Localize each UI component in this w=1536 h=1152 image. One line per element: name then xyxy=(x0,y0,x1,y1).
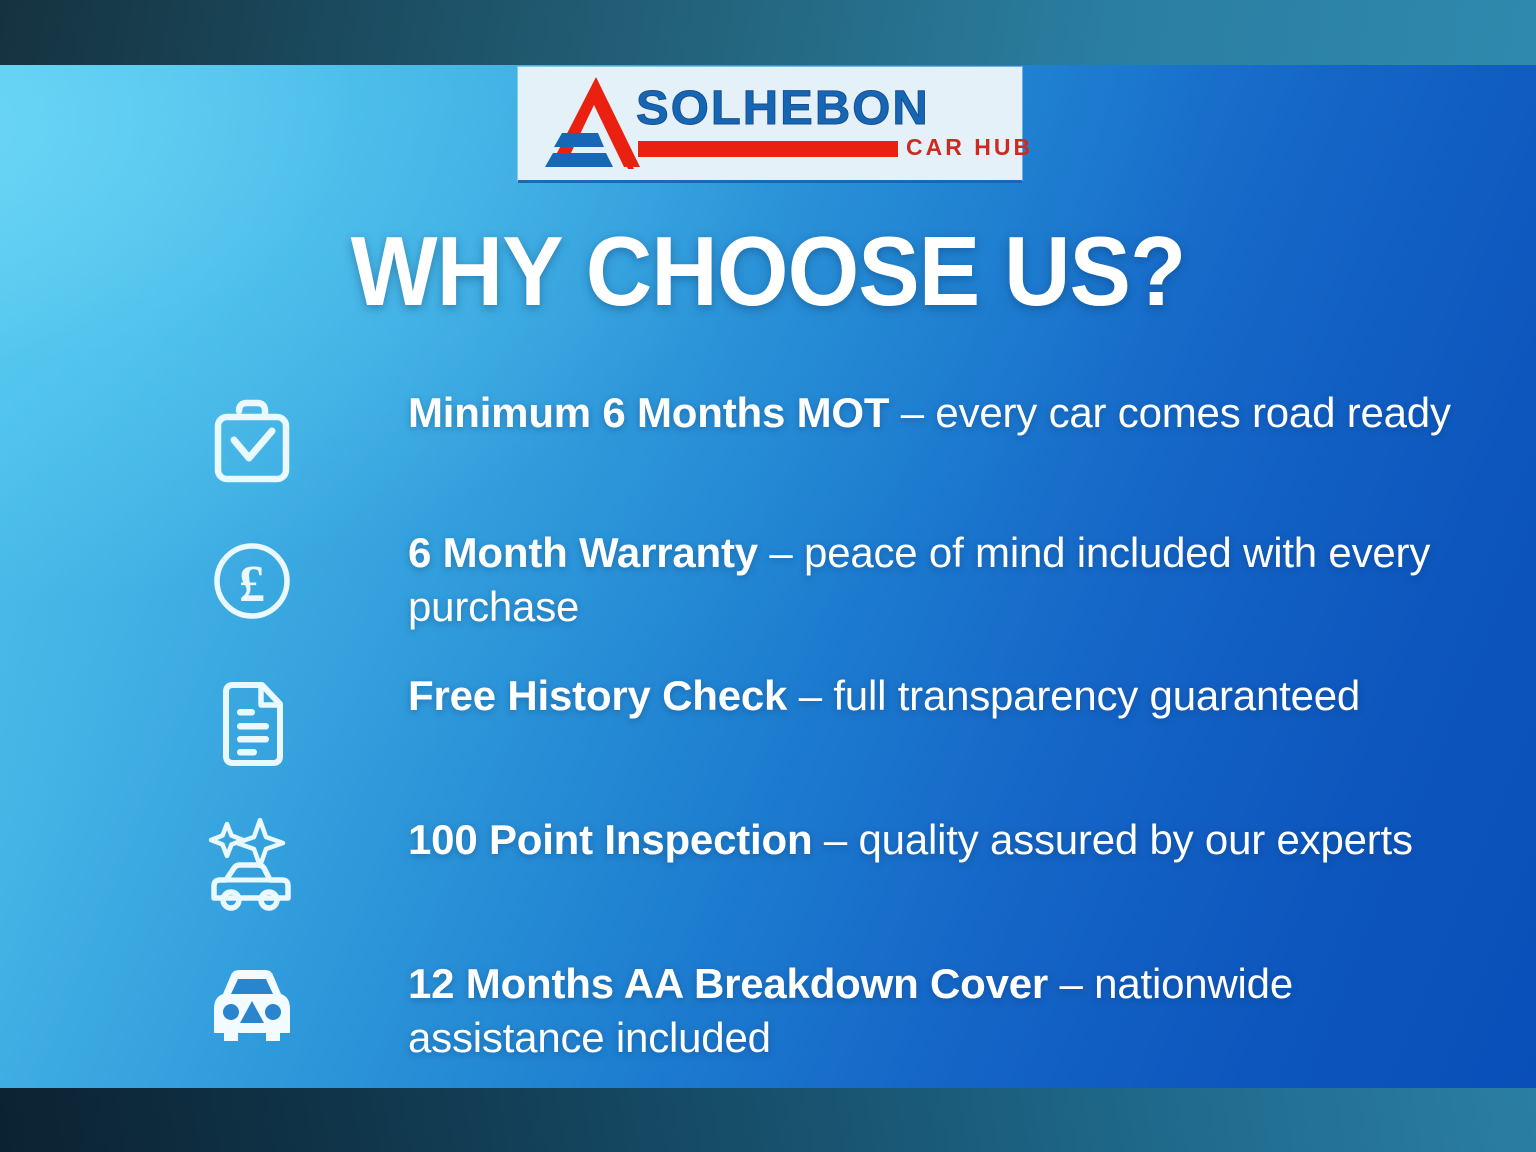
logo-subtitle: CAR HUB xyxy=(906,136,1033,159)
list-item: 100 Point Inspection – quality assured b… xyxy=(196,812,1496,956)
document-lines-icon xyxy=(196,668,308,780)
list-item-text: 12 Months AA Breakdown Cover – nationwid… xyxy=(408,957,1488,1065)
list-item-text: 6 Month Warranty – peace of mind include… xyxy=(408,526,1488,634)
list-item-lead: 100 Point Inspection xyxy=(408,816,812,863)
briefcase-check-icon xyxy=(196,385,308,497)
list-item-lead: Free History Check xyxy=(408,672,787,719)
list-item-text: Minimum 6 Months MOT – every car comes r… xyxy=(408,386,1488,440)
logo-wordmark: SOLHEBON xyxy=(636,85,930,133)
list-item-lead: 12 Months AA Breakdown Cover xyxy=(408,960,1048,1007)
list-item-text: Free History Check – full transparency g… xyxy=(408,669,1488,723)
svg-text:£: £ xyxy=(239,556,265,613)
list-item: Free History Check – full transparency g… xyxy=(196,668,1496,812)
list-item-rest: – quality assured by our experts xyxy=(812,816,1412,863)
chevron-pyramid-logo-icon xyxy=(536,75,644,171)
page-title: WHY CHOOSE US? xyxy=(46,222,1490,320)
list-item: Minimum 6 Months MOT – every car comes r… xyxy=(196,385,1496,525)
car-sparkle-icon xyxy=(196,812,308,924)
letterbox-top xyxy=(0,0,1536,65)
list-item-rest: – full transparency guaranteed xyxy=(787,672,1360,719)
car-front-icon xyxy=(196,956,308,1068)
promo-graphic: SOLHEBON CAR HUB WHY CHOOSE US? Minimum … xyxy=(0,0,1536,1152)
logo-red-bar xyxy=(638,141,898,157)
pound-circle-icon: £ xyxy=(196,525,308,637)
list-item-lead: Minimum 6 Months MOT xyxy=(408,389,889,436)
list-item-text: 100 Point Inspection – quality assured b… xyxy=(408,813,1488,867)
list-item: 12 Months AA Breakdown Cover – nationwid… xyxy=(196,956,1496,1100)
list-item-rest: – every car comes road ready xyxy=(889,389,1450,436)
list-item: £ 6 Month Warranty – peace of mind inclu… xyxy=(196,525,1496,668)
feature-list: Minimum 6 Months MOT – every car comes r… xyxy=(196,385,1496,1100)
list-item-lead: 6 Month Warranty xyxy=(408,529,758,576)
brand-logo-plate: SOLHEBON CAR HUB xyxy=(518,67,1022,180)
